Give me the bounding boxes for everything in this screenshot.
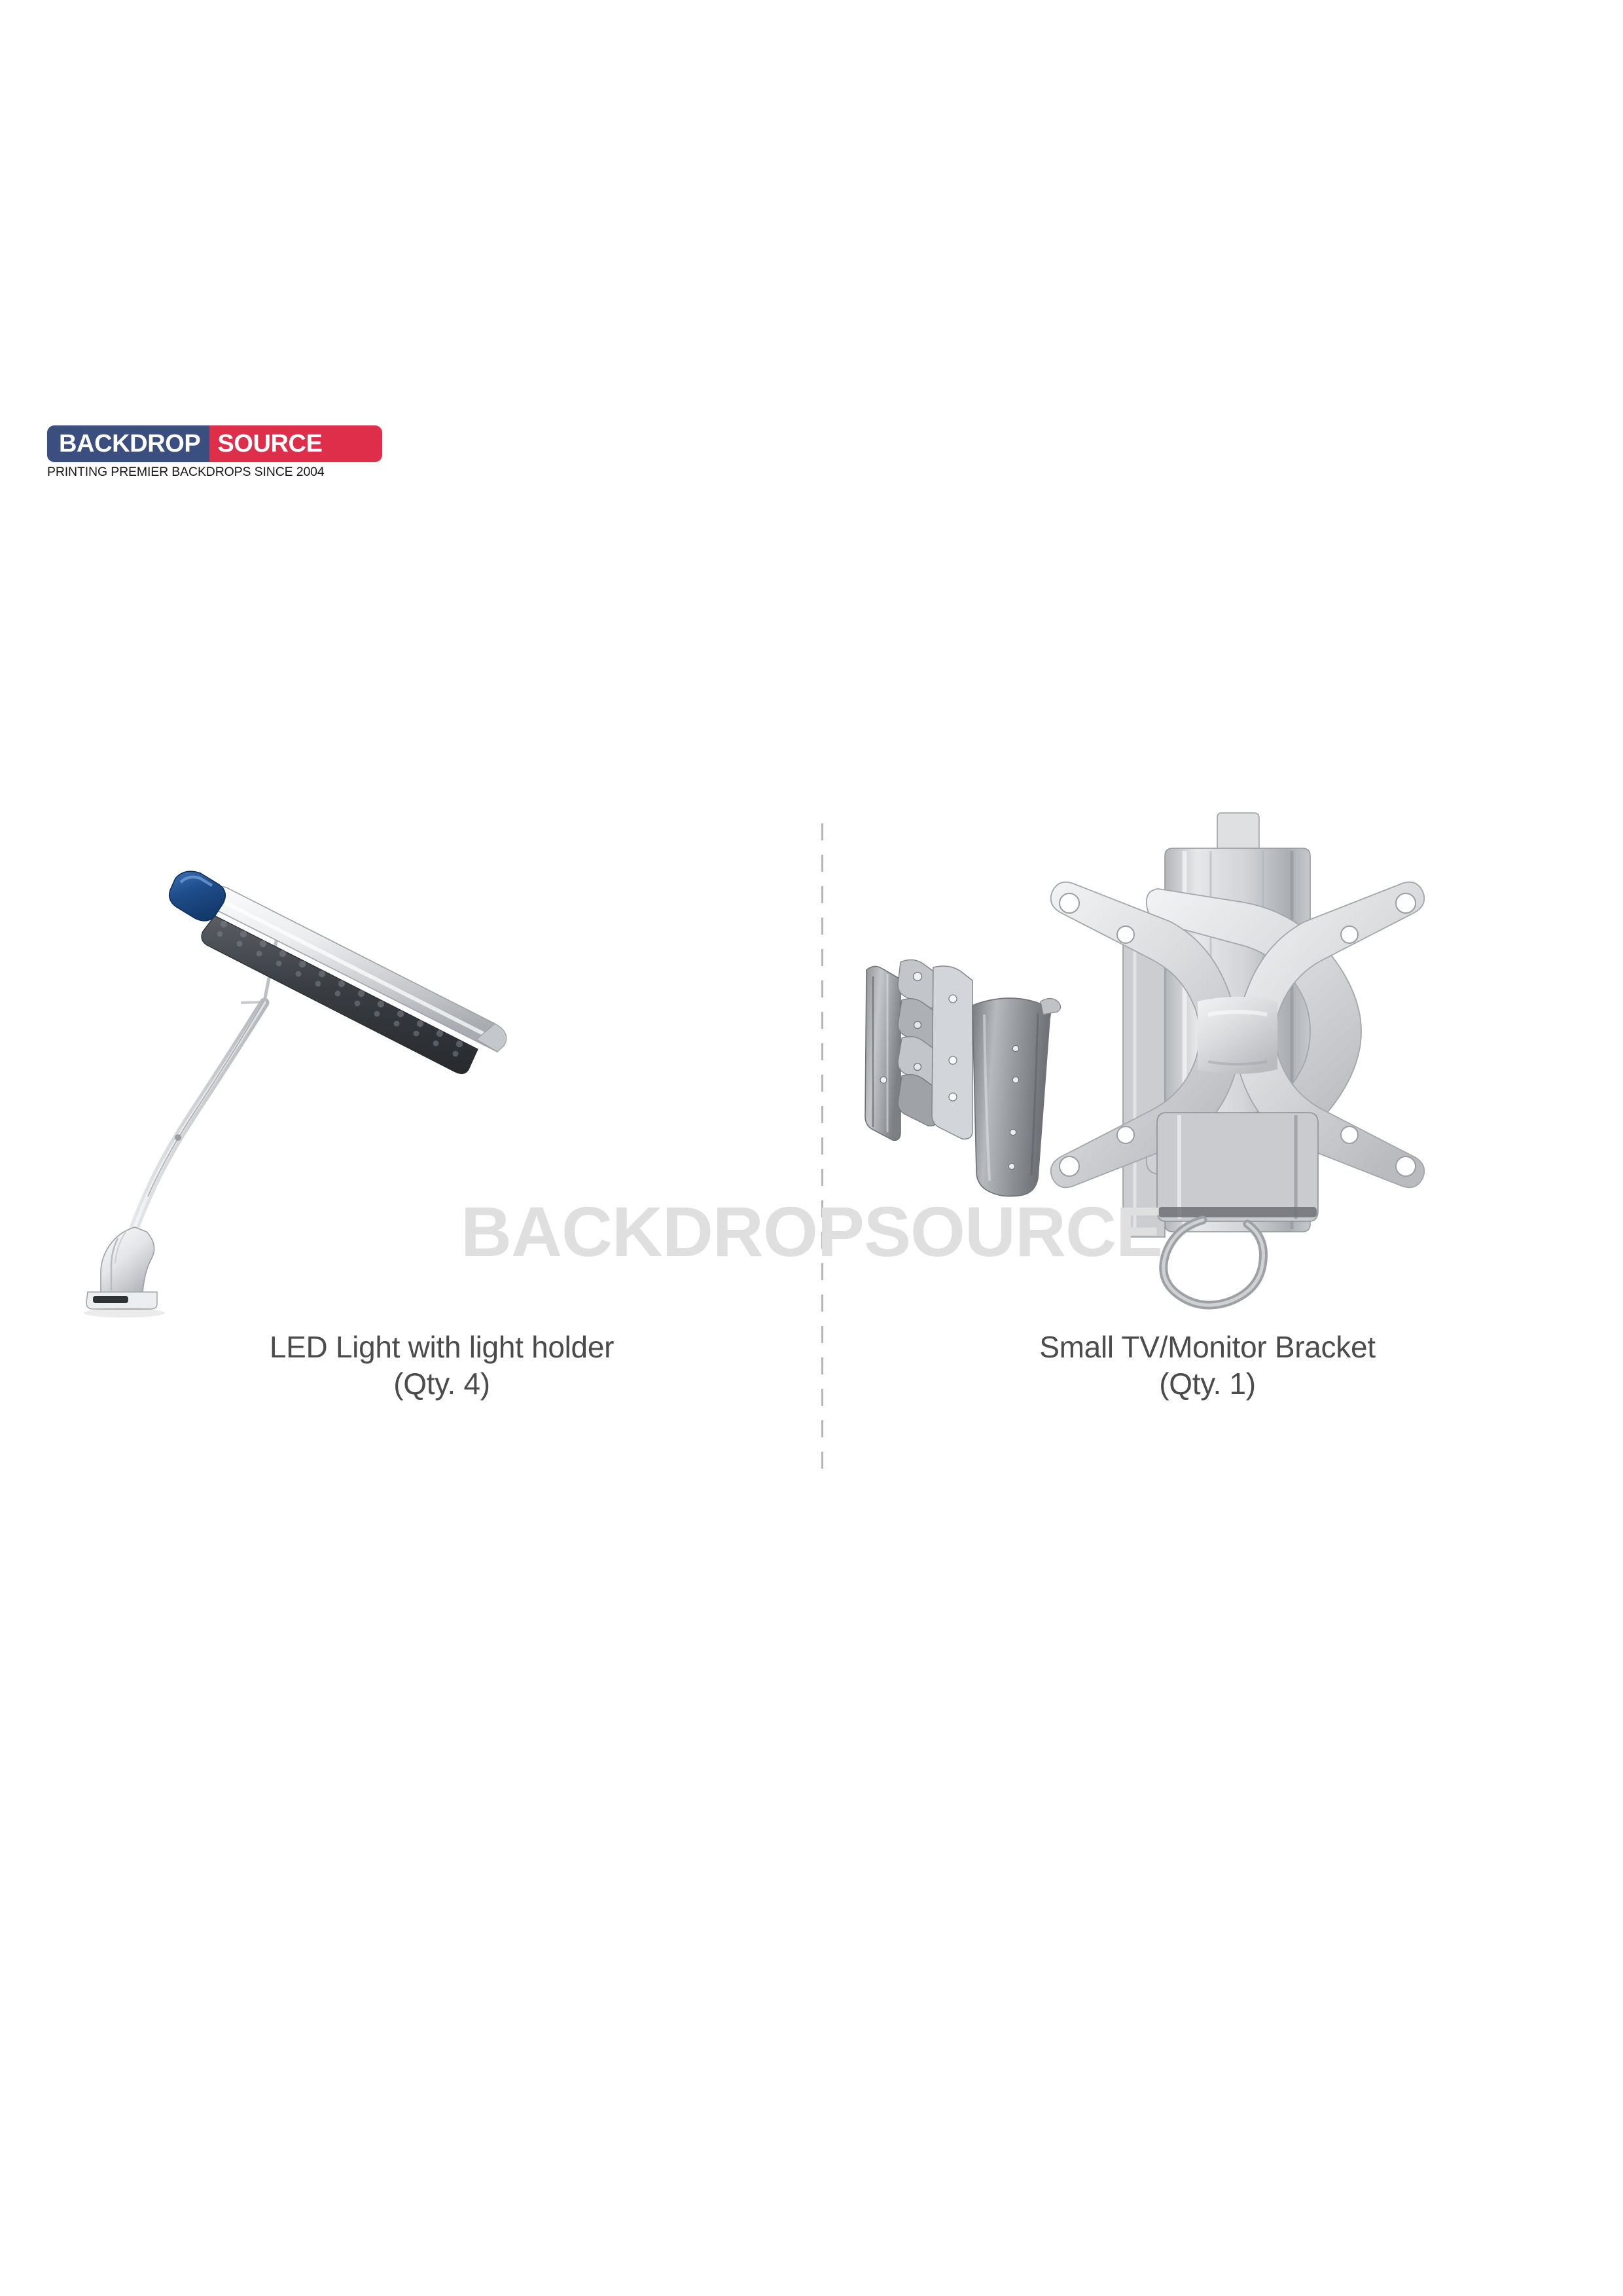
logo-pill: BACKDROP SOURCE: [47, 425, 382, 462]
logo-tagline: PRINTING PREMIER BACKDROPS SINCE 2004: [47, 465, 382, 480]
bracket-cup-hole: [1008, 1163, 1014, 1169]
tv-bracket-name: Small TV/Monitor Bracket: [1039, 1330, 1375, 1364]
vesa-cable-hook: [1164, 1220, 1264, 1305]
wall-plate-back: [865, 966, 901, 1140]
led-light-arm-icon: [79, 805, 805, 1322]
tv-bracket-quantity: (Qty. 1): [844, 1365, 1571, 1402]
led-arm-joint: [175, 1134, 181, 1141]
led-light-quantity: (Qty. 4): [79, 1365, 805, 1402]
vesa-collar-lip: [1158, 1207, 1317, 1217]
tv-monitor-bracket-icon: [844, 805, 1571, 1322]
led-clamp-base: [84, 1227, 165, 1318]
logo-pill-right-half: SOURCE: [209, 425, 382, 462]
bracket-mid-plate: [932, 966, 972, 1139]
tv-monitor-bracket-image: [844, 805, 1571, 1322]
logo-word-backdrop: BACKDROP: [59, 431, 200, 456]
tv-bracket-caption: Small TV/Monitor Bracket (Qty. 1): [844, 1329, 1571, 1402]
bracket-mid-plate-hole: [949, 1093, 957, 1101]
products-area: LED Light with light holder (Qty. 4): [0, 805, 1623, 1512]
led-light-caption: LED Light with light holder (Qty. 4): [79, 1329, 805, 1402]
led-base-rubber-pad: [93, 1296, 128, 1303]
led-light-image: [79, 805, 805, 1322]
logo-pill-left-half: BACKDROP: [47, 425, 209, 462]
bracket-mid-plate-hole: [949, 995, 957, 1003]
logo-word-source: SOURCE: [217, 431, 322, 456]
vesa-top-post: [1217, 813, 1259, 848]
brand-logo: BACKDROP SOURCE PRINTING PREMIER BACKDRO…: [47, 425, 382, 480]
bracket-mid-plate-hole: [949, 1056, 957, 1064]
bracket-hinge-knuckles: [898, 960, 937, 1126]
bracket-cup-tab: [1041, 998, 1061, 1014]
led-base-shadow: [84, 1308, 165, 1318]
wall-mount-bracket-assembly: [865, 960, 1061, 1196]
bracket-cup-hole: [1012, 1077, 1018, 1083]
wall-plate-screw-hole: [880, 1077, 887, 1083]
vertical-dashed-divider: [821, 823, 823, 1483]
bracket-cup-hole: [1012, 1045, 1018, 1051]
led-blue-end-cap: [169, 871, 225, 921]
led-lamp-head: [200, 887, 507, 1074]
bracket-cup-hole: [1010, 1129, 1016, 1135]
vesa-bracket-assembly: [1051, 813, 1425, 1305]
product-item-led-light: LED Light with light holder (Qty. 4): [79, 805, 805, 1512]
product-item-tv-monitor-bracket: Small TV/Monitor Bracket (Qty. 1): [844, 805, 1571, 1512]
led-arm: [131, 1001, 264, 1238]
led-light-name: LED Light with light holder: [270, 1330, 614, 1364]
